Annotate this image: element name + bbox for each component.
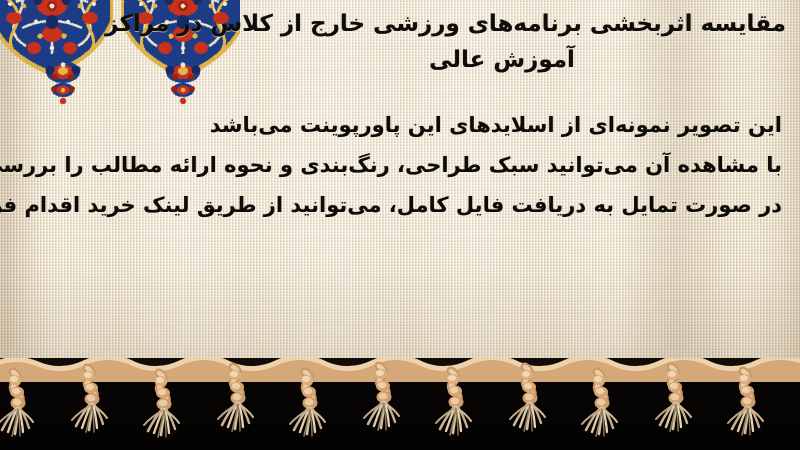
slide-body-line-1: این تصویر نمونه‌ای از اسلایدهای این پاور… [18, 105, 782, 145]
slide-title-line-1: مقایسه اثربخشی برنامه‌های ورزشی خارج از … [218, 6, 786, 42]
slide-title: مقایسه اثربخشی برنامه‌های ورزشی خارج از … [218, 6, 786, 78]
slide-body-line-2: با مشاهده آن می‌توانید سبک طراحی، رنگ‌بن… [18, 145, 782, 185]
carpet-fringe-band [0, 358, 800, 450]
slide-title-line-2: آموزش عالی [218, 42, 786, 78]
slide-body-line-3: در صورت تمایل به دریافت فایل کامل، می‌تو… [18, 185, 782, 225]
slide-body-text: این تصویر نمونه‌ای از اسلایدهای این پاور… [18, 105, 782, 225]
slide-canvas: مقایسه اثربخشی برنامه‌های ورزشی خارج از … [0, 0, 800, 450]
tassel-row [0, 358, 800, 450]
